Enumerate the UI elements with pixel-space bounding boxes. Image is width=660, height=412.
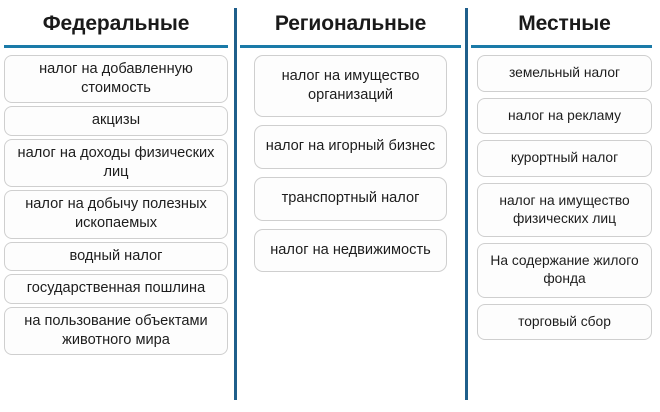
list-item: торговый сбор [477,304,652,341]
column-federal-items: налог на добавленную стоимость акцизы на… [4,55,228,358]
column-local: Местные земельный налог налог на рекламу… [465,0,660,346]
list-item: транспортный налог [254,177,447,221]
list-item: земельный налог [477,55,652,92]
column-local-heading: Местные [477,0,652,45]
list-item: налог на имущество организаций [254,55,447,117]
columns-container: Федеральные налог на добавленную стоимос… [0,0,660,412]
list-item: налог на доходы физических лиц [4,139,228,187]
column-federal: Федеральные налог на добавленную стоимос… [0,0,234,358]
tax-classification-diagram: Федеральные налог на добавленную стоимос… [0,0,660,412]
list-item: налог на рекламу [477,98,652,135]
list-item: налог на добавленную стоимость [4,55,228,103]
list-item: курортный налог [477,140,652,177]
column-regional: Региональные налог на имущество организа… [234,0,465,280]
list-item: государственная пошлина [4,274,228,304]
column-federal-heading: Федеральные [4,0,228,45]
list-item: водный налог [4,242,228,272]
list-item: на пользование объектами животного мира [4,307,228,355]
column-regional-rule [240,45,461,48]
list-item: налог на имущество физических лиц [477,183,652,237]
list-item: налог на добычу полезных ископаемых [4,190,228,238]
column-local-items: земельный налог налог на рекламу курортн… [477,55,652,346]
list-item: На содержание жилого фонда [477,243,652,297]
list-item: налог на недвижимость [254,229,447,273]
column-local-rule [471,45,652,48]
column-regional-items: налог на имущество организаций налог на … [254,55,447,280]
column-federal-rule [4,45,228,48]
list-item: налог на игорный бизнес [254,125,447,169]
list-item: акцизы [4,106,228,136]
column-regional-heading: Региональные [254,0,447,45]
